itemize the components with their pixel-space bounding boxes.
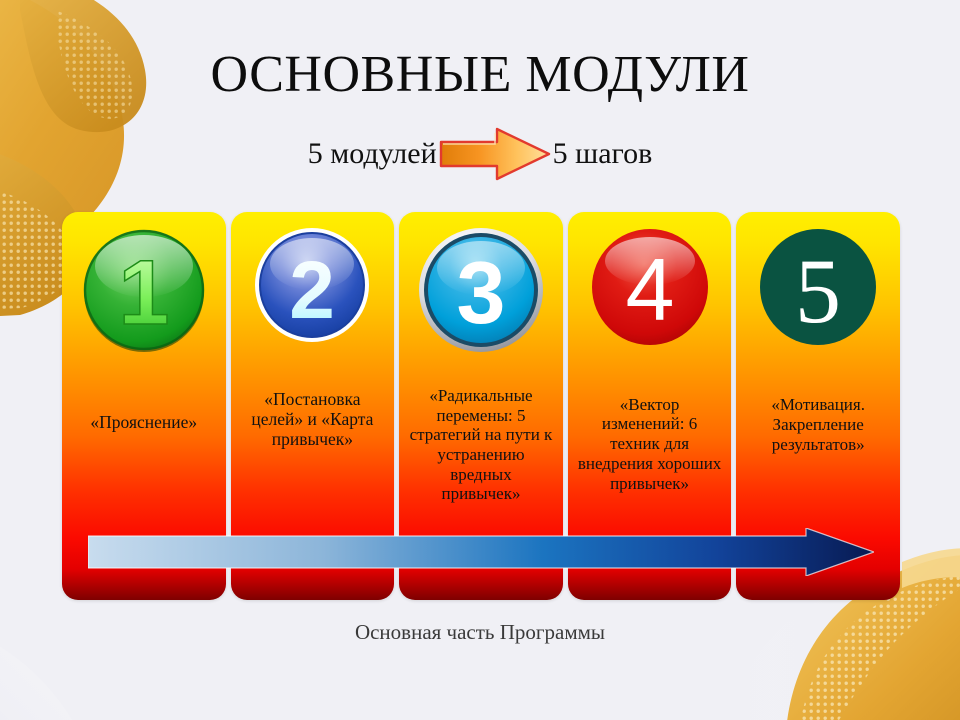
module-orb-3: 3 (417, 226, 545, 354)
subtitle-left-label: 5 модулей (308, 137, 437, 171)
progress-arrow (88, 528, 874, 576)
module-orb-1: 1 (80, 226, 208, 354)
subtitle-right-label: 5 шагов (553, 137, 653, 171)
page-title: ОСНОВНЫЕ МОДУЛИ (0, 48, 960, 103)
decoration-bottom-left (0, 580, 180, 720)
module-number-4: 4 (625, 240, 674, 339)
module-number-1: 1 (118, 242, 169, 344)
subtitle-row: 5 модулей 5 шагов (0, 125, 960, 183)
module-orb-5: 5 (757, 226, 879, 348)
module-number-2: 2 (290, 245, 336, 336)
slide-canvas: ОСНОВНЫЕ МОДУЛИ 5 модулей 5 шагов (0, 0, 960, 720)
module-orb-2: 2 (253, 226, 371, 344)
module-orb-4: 4 (589, 226, 711, 348)
module-number-3: 3 (457, 243, 506, 342)
module-number-5: 5 (795, 240, 841, 342)
footer-caption: Основная часть Программы (0, 620, 960, 645)
subtitle-arrow-icon (435, 125, 555, 183)
